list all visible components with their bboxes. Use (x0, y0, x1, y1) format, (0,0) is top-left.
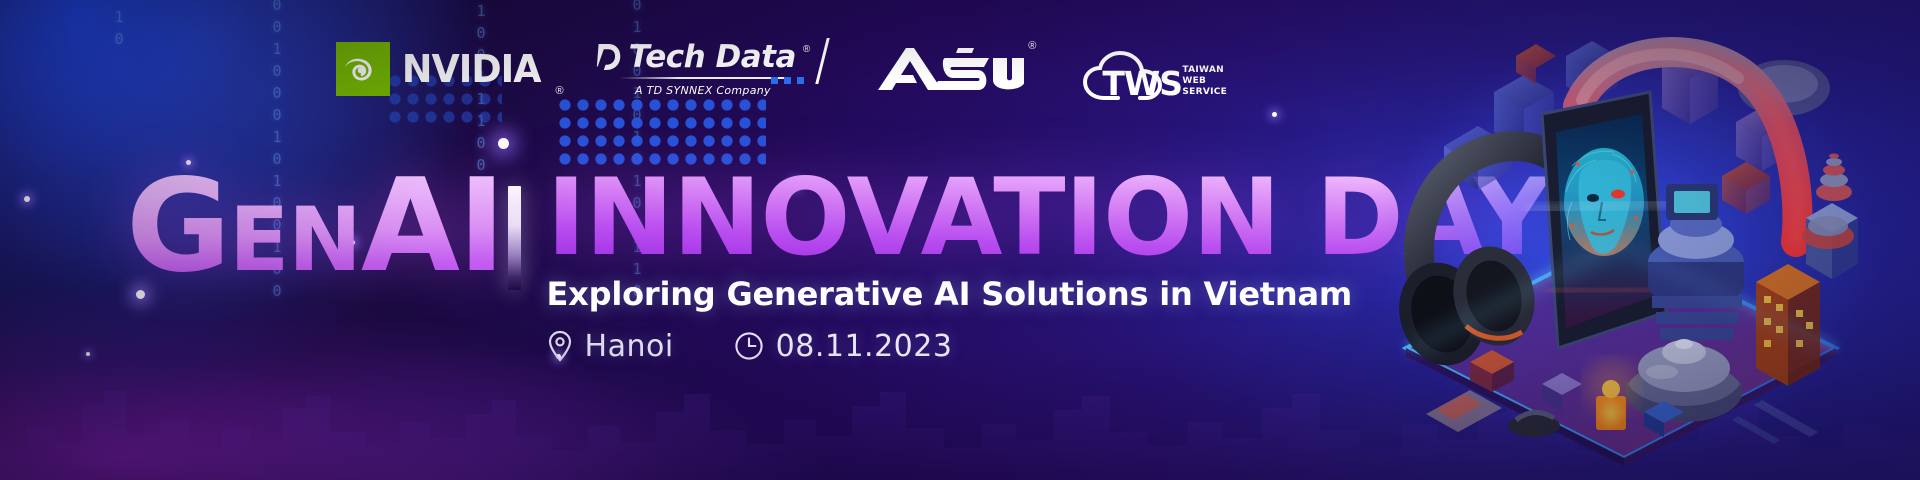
event-banner: 0010 01001000101001001110010 10010011100… (0, 0, 1920, 480)
vignette-overlay (0, 0, 1920, 480)
